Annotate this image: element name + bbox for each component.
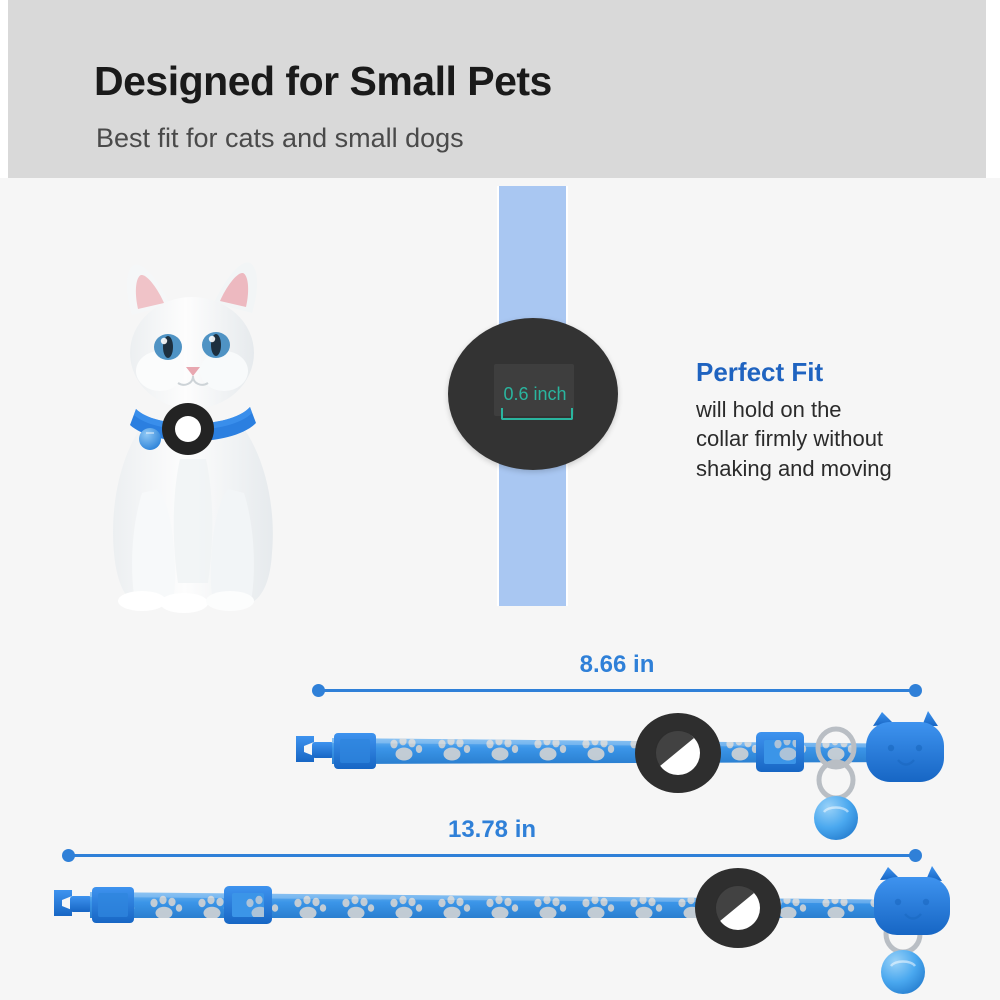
cat-face-buckle [866,711,944,782]
large-collar-dimension: 13.78 in [62,849,922,863]
small-collar-dimension-label: 8.66 in [312,651,922,679]
dimension-line [318,689,916,692]
perfect-fit-callout: Perfect Fit will hold on the collar firm… [696,358,948,483]
airtag-holder [695,868,781,948]
callout-line-3: shaking and moving [696,454,948,483]
callout-description: will hold on the collar firmly without s… [696,395,948,483]
slider-buckle [756,732,804,772]
bell [881,950,925,994]
dimension-line [68,854,916,857]
small-collar-dimension: 8.66 in [312,684,922,698]
header-band: Designed for Small Pets Best fit for cat… [8,0,986,178]
cat-photo [84,243,300,615]
airtag-holder [635,713,721,793]
callout-line-2: collar firmly without [696,424,948,453]
product-infographic: Designed for Small Pets Best fit for cat… [0,0,1000,1000]
split-ring [818,729,854,798]
clip-prongs [54,890,92,916]
page-subtitle: Best fit for cats and small dogs [96,123,464,154]
clip-prongs [296,736,334,762]
callout-line-1: will hold on the [696,395,948,424]
strap-width-bracket [501,408,573,420]
dimension-endpoint-right [909,684,922,697]
cat-face-buckle [874,866,950,935]
strap-width-label: 0.6 inch [455,384,615,405]
dimension-endpoint-right [909,849,922,862]
page-title: Designed for Small Pets [94,58,552,105]
large-collar-product [48,862,948,1000]
large-collar-dimension-label: 13.78 in [62,816,922,844]
slider-buckle [224,886,272,924]
callout-title: Perfect Fit [696,358,948,387]
